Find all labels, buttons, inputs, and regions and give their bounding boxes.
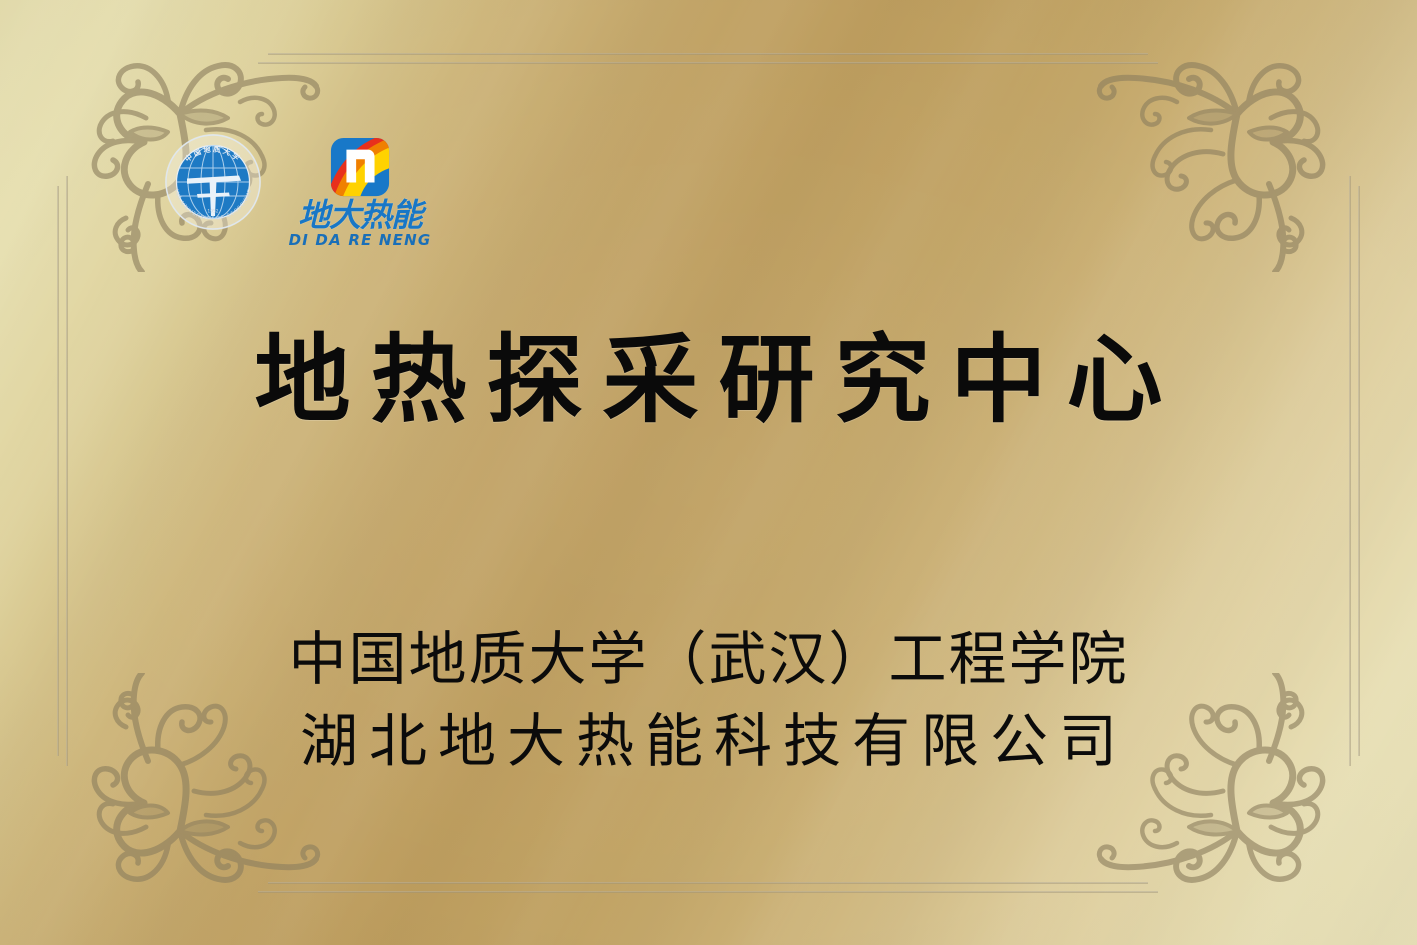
company-name-en: DI DA RE NENG: [289, 233, 432, 248]
corner-ornament-top-right: [1089, 22, 1389, 272]
company-name-cn: 地大热能: [298, 199, 422, 231]
award-plaque: 中国地质大学 CHINA UNIVERSITY OF GEOSCIENCES 1…: [0, 0, 1417, 945]
frame-rule-bottom-inner: [268, 882, 1148, 884]
company-logo: 地大热能 DI DA RE NENG: [285, 132, 435, 248]
didareneng-mark-icon: [329, 136, 391, 198]
plaque-title: 地热探采研究中心: [0, 330, 1417, 431]
svg-text:1952: 1952: [207, 209, 218, 215]
frame-rule-top-inner: [268, 53, 1148, 55]
cug-emblem-icon: 中国地质大学 CHINA UNIVERSITY OF GEOSCIENCES 1…: [163, 132, 263, 232]
subtitle-line-1: 中国地质大学（武汉）工程学院: [0, 618, 1417, 700]
logo-group: 中国地质大学 CHINA UNIVERSITY OF GEOSCIENCES 1…: [163, 132, 435, 248]
plaque-subtitles: 中国地质大学（武汉）工程学院 湖北地大热能科技有限公司: [0, 618, 1417, 783]
frame-rule-bottom-outer: [258, 891, 1158, 893]
subtitle-line-2: 湖北地大热能科技有限公司: [0, 700, 1417, 782]
frame-rule-top-outer: [258, 62, 1158, 64]
